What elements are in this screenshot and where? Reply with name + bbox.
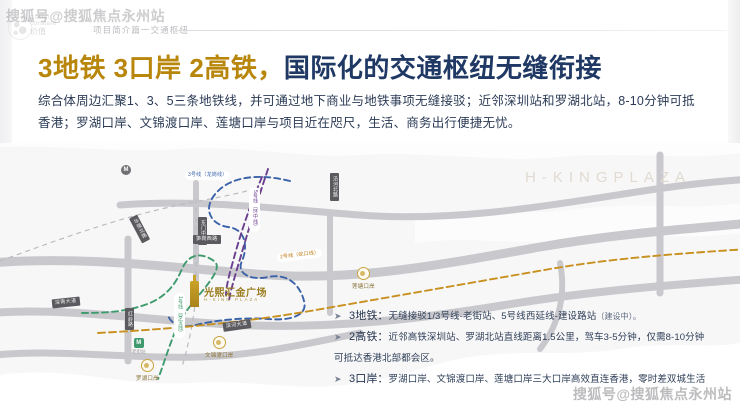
road-label-yanhebei: 沿河北路 xyxy=(330,173,339,201)
bullet-item-ports: ➤ 3口岸：罗湖口岸、文锦渡口岸、莲塘口岸三大口岸高效直连香港，零时差双城生活 xyxy=(334,369,734,390)
arrow-icon: ➤ xyxy=(334,327,342,348)
bullet-note-metro: （建设中）。 xyxy=(596,312,641,321)
globe-icon xyxy=(8,16,32,40)
poi-luohu-port[interactable]: 罗湖口岸 xyxy=(136,359,159,382)
poi-wenjindu-port[interactable]: 文锦渡口岸 xyxy=(205,336,234,359)
map-brand-wordmark: H-KINGPLAZA xyxy=(525,169,691,186)
port-icon xyxy=(213,336,226,349)
poi-liantang-port[interactable]: 莲塘口岸 xyxy=(352,267,375,290)
bullet-text-ports: 罗湖口岸、文锦渡口岸、莲塘口岸三大口岸高效直连香港，零时差双城生活 xyxy=(389,374,706,385)
metro-line-5-label: 5号线（环中线） xyxy=(249,187,260,232)
rail-station-icon xyxy=(121,165,131,175)
page-title: 3地铁 3口岸 2高铁，国际化的交通枢纽无缝衔接 xyxy=(38,48,602,85)
bullet-text-hsr: 近邻高铁深圳站、罗湖北站直线距离1.5公里，驾车3-5分钟，仅需8-10分钟 xyxy=(389,332,705,343)
port-icon xyxy=(357,267,370,280)
bullet-item-hsr: ➤ 2高铁：近邻高铁深圳站、罗湖北站直线距离1.5公里，驾车3-5分钟，仅需8-… xyxy=(334,327,734,348)
arrow-icon: ➤ xyxy=(334,306,342,327)
intro-paragraph: 综合体周边汇聚1、3、5三条地铁线，并可通过地下商业与地铁事项无缝接驳；近邻深圳… xyxy=(38,90,700,134)
page-title-gold: 3地铁 3口岸 2高铁， xyxy=(38,53,284,83)
bullet-item-metro: ➤ 3地铁：无缝接驳1/3号线-老街站、5号线西延线-建设路站（建设中）。 xyxy=(334,306,734,327)
poi-old-street-station[interactable]: 老街站 xyxy=(132,338,146,355)
brand-logo-line-cn: 价值 xyxy=(30,28,88,36)
road-label-wenjin: 笋岗西路 xyxy=(193,235,221,244)
project-name-en: H-KING PLAZA xyxy=(204,297,259,302)
building-icon xyxy=(190,281,199,307)
bullet-list: ➤ 3地铁：无缝接驳1/3号线-老街站、5号线西延线-建设路站（建设中）。 ➤ … xyxy=(334,306,734,390)
metro-station-icon xyxy=(134,338,144,348)
brand-logo-text: Center constant 价值 xyxy=(30,15,88,37)
bullet-key-hsr: 2高铁： xyxy=(349,331,389,343)
metro-line-1-label: 1号线（罗宝线） xyxy=(174,293,185,338)
slide-root: Center constant 价值 项目简介篇一交通枢纽 3地铁 3口岸 2高… xyxy=(0,0,740,408)
arrow-icon: ➤ xyxy=(334,369,342,390)
bullet-text-metro: 无缝接驳1/3号线-老街站、5号线西延线-建设路站 xyxy=(389,311,597,322)
header-divider xyxy=(175,30,727,31)
poi-liantang-port-label: 莲塘口岸 xyxy=(352,282,375,290)
slide-header: Center constant 价值 项目简介篇一交通枢纽 xyxy=(0,0,740,44)
page-title-navy: 国际化的交通枢纽无缝衔接 xyxy=(284,53,602,83)
poi-railway-station[interactable] xyxy=(121,165,131,176)
bullet-item-hsr-continuation: 可抵达香港北部都会区。 xyxy=(334,348,734,369)
metro-line-3-label: 3号线（龙岗线） xyxy=(185,171,230,180)
poi-old-street-sub: 老街站 xyxy=(132,349,146,355)
bullet-key-metro: 3地铁： xyxy=(349,310,389,322)
poi-luohu-port-label: 罗湖口岸 xyxy=(136,374,159,382)
brand-logo: Center constant 价值 xyxy=(8,14,86,40)
port-icon xyxy=(141,359,154,372)
road-label-hongling: 红岭路 xyxy=(125,308,134,330)
poi-wenjindu-port-label: 文锦渡口岸 xyxy=(205,351,234,359)
bullet-key-ports: 3口岸： xyxy=(349,373,389,385)
